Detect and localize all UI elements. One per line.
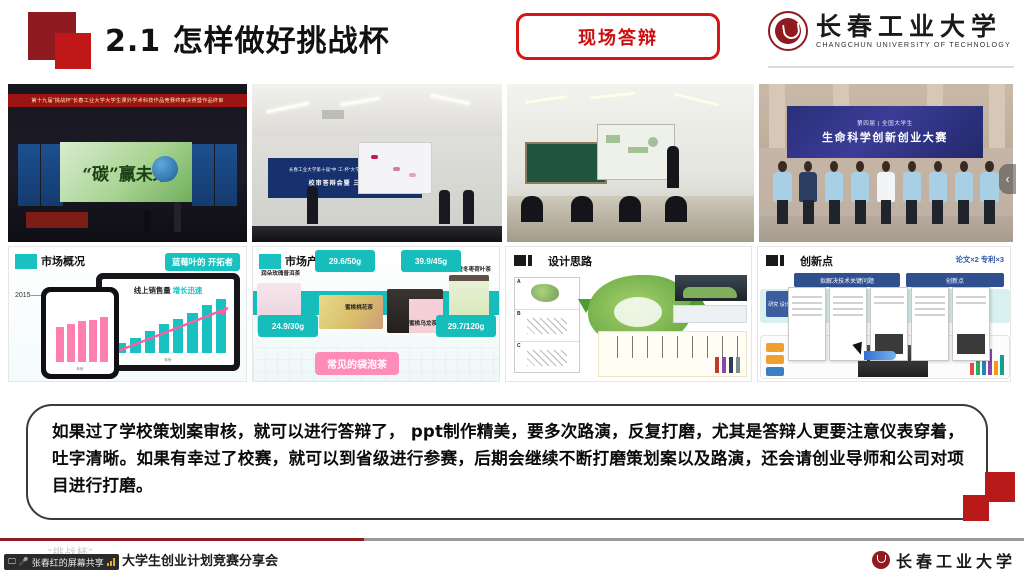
chalkboard: [525, 142, 607, 184]
slide-thumb-innovation[interactable]: 创新点 论文×2 专利×3 拟解决技术关键问题 创新点 研究 设计: [757, 246, 1011, 382]
team-member: [926, 156, 949, 224]
share-label: 张春红的屏幕共享: [32, 556, 104, 569]
vehicle-photo: [675, 275, 747, 301]
trendline-svg: [114, 303, 232, 355]
page-title: 2.1 怎样做好挑战杯: [105, 16, 390, 60]
thumb-title-innovation: 创新点: [800, 253, 833, 269]
event-banner-line2: 生命科学创新创业大赛: [822, 129, 948, 145]
product-label: 润朵玫瑰普洱茶: [261, 269, 300, 277]
team-member: [849, 156, 872, 224]
facade-column: [989, 84, 1005, 148]
tablet-screen: 线上销售量 增长迅速 年份: [102, 279, 234, 365]
screen-graphic: [606, 135, 620, 143]
slide-thumbnail-row: 市场概况 蓝莓叶的 开拓者 2015——2019年销量 增长 线上销售量 增长迅…: [8, 246, 1016, 382]
paper-thumb: [788, 287, 826, 361]
team-member: [978, 156, 1001, 224]
ceiling-light: [525, 95, 567, 104]
chart-title-prefix: 线上销售量: [134, 286, 173, 295]
footer-rule-red: [0, 538, 364, 541]
globe-graphic: [152, 156, 178, 182]
screen-graphic: [371, 155, 378, 159]
ceiling-light: [591, 92, 635, 100]
screen-share-indicator[interactable]: 🖵 🎤 张春红的屏幕共享: [4, 554, 119, 570]
thumb-title-design-idea: 设计思路: [548, 253, 592, 269]
product-price: 39.9/45g: [406, 256, 456, 268]
stage-desk: [26, 212, 88, 228]
papers-patents-metric: 论文×2 专利×3: [956, 254, 1004, 265]
decorative-square-red: [55, 33, 91, 69]
chart-bar: [89, 320, 97, 362]
team-member: [952, 156, 975, 224]
panel-label: A: [517, 279, 521, 285]
chart-title-highlight: 增长迅速: [173, 286, 203, 295]
screen-graphic: [409, 173, 416, 177]
sales-volume-bar-chart: [56, 312, 108, 362]
stage-banner-text: 第十九届“挑战杯”长春工业大学大学生课外学术科技作品竞赛终审决赛暨作品终审: [8, 94, 247, 107]
signal-bars-icon: [107, 558, 115, 566]
abc-panel-group: A B C: [514, 277, 580, 373]
footer-title: 大学生创业计划竞赛分享会: [122, 550, 278, 569]
paper-thumb: [911, 287, 949, 361]
product-box: [319, 295, 383, 329]
team-member: [823, 156, 846, 224]
chevron-left-icon: ‹: [1006, 173, 1010, 185]
attendee-figure: [439, 190, 450, 224]
commentary-callout: 如果过了学校策划案审核，就可以进行答辩了， ppt制作精美，要多次路演，反复打磨…: [26, 404, 988, 520]
screen-graphic: [628, 147, 648, 153]
team-member: [900, 156, 923, 224]
commentary-text: 如果过了学校策划案审核，就可以进行答辩了， ppt制作精美，要多次路演，反复打磨…: [52, 419, 964, 500]
blue-arrow-graphic: [864, 351, 896, 360]
trendline-overlay: [114, 303, 232, 355]
panel-label: C: [517, 343, 521, 349]
university-name-cn: 长春工业大学: [816, 14, 1011, 39]
spectra-panel: [598, 331, 747, 377]
footer-university-name: 长春工业大学: [896, 548, 1016, 572]
chart-bar: [56, 327, 64, 362]
team-member: [771, 156, 794, 224]
event-banner: 第四届 | 全国大学生 生命科学创新创业大赛: [787, 106, 983, 158]
chart-bar: [78, 321, 86, 362]
sample-tubes: [715, 357, 740, 373]
university-seal-icon: [872, 551, 890, 569]
student-figure: [571, 196, 593, 222]
team-group-photo: 第四届 | 全国大学生 生命科学创新创业大赛: [759, 84, 1013, 242]
lecture-hall-photo: 长春工业大学第十届“中·工·杯”大学生创业创新计划大赛 校审答辩会暨 三等仪式: [252, 84, 502, 242]
accent-bar: [15, 254, 37, 269]
screen-graphic: [648, 137, 658, 147]
slide-thumb-market-overview[interactable]: 市场概况 蓝莓叶的 开拓者 2015——2019年销量 增长 线上销售量 增长迅…: [8, 246, 247, 382]
stage-person: [174, 202, 181, 232]
collapse-panel-button[interactable]: ‹: [999, 164, 1016, 194]
panel-label: B: [517, 311, 521, 317]
decorative-square-red: [985, 472, 1015, 502]
product-label: 蜜桃桃花茶: [345, 303, 373, 311]
chart-bar: [100, 317, 108, 362]
thumb-title-market-overview: 市场概况: [41, 253, 85, 269]
phone-chart-xlabel: 年份: [46, 367, 114, 372]
university-seal-icon: [768, 11, 808, 51]
stage-pillar: [18, 144, 40, 206]
paper-thumbnails: [788, 287, 990, 361]
stage-person: [144, 210, 151, 232]
slide-thumb-market-products[interactable]: 市场产品 润朵玫瑰普洱茶 蜜桃桃花茶 蜜桃乌龙茶 圆本堂冬枣荷叶茶 29.6/5…: [252, 246, 500, 382]
stage-pillar: [215, 144, 237, 206]
key-problem-header: 拟解决技术关键问题: [794, 273, 900, 287]
paper-thumb: [870, 287, 908, 361]
slide-thumb-design-idea[interactable]: 设计思路 A B C: [505, 246, 752, 382]
projection-screen: [358, 142, 432, 194]
square-bullet-icon: [766, 255, 784, 266]
product-label: 蜜桃乌龙茶: [409, 319, 437, 327]
product-price-card: 24.9/30g: [258, 315, 318, 337]
stage-led-screen: “碳”赢未来: [60, 142, 192, 202]
diagram-strip: [673, 305, 747, 323]
innovation-header: 创新点: [906, 273, 1004, 287]
common-teabag-tag: 常见的袋泡茶: [315, 352, 399, 375]
student-figure: [521, 196, 543, 222]
screen-graphic: [393, 167, 400, 171]
team-member: [797, 156, 820, 224]
stage-pillar: [192, 144, 214, 206]
panel-c: C: [515, 342, 579, 374]
product-price-card: 29.6/50g: [315, 250, 375, 272]
university-name-en: CHANGCHUN UNIVERSITY OF TECHNOLOGY: [816, 40, 1011, 49]
presenter-figure: [307, 186, 318, 224]
chart-bar: [67, 324, 75, 362]
university-logo: 长春工业大学 CHANGCHUN UNIVERSITY OF TECHNOLOG…: [768, 11, 1011, 51]
decorative-square-red: [963, 495, 989, 521]
footer-rule-gray: [364, 538, 1024, 541]
student-figure: [665, 196, 687, 222]
thumb-tag-pioneer: 蓝莓叶的 开拓者: [165, 253, 240, 271]
audience-row: [252, 226, 502, 242]
panel-b: B: [515, 310, 579, 342]
ceiling: [252, 84, 502, 136]
projection-screen: [597, 124, 675, 180]
university-name-block: 长春工业大学 CHANGCHUN UNIVERSITY OF TECHNOLOG…: [816, 14, 1011, 49]
paper-thumb: [952, 287, 990, 361]
classroom-presentation-photo: [507, 84, 754, 242]
product-price-card: 29.7/120g: [436, 315, 496, 337]
phone-mockup: 年份: [41, 287, 119, 379]
facade-column: [769, 84, 785, 148]
event-banner-line1: 第四届 | 全国大学生: [857, 119, 913, 127]
product-price-card: 39.9/45g: [401, 250, 461, 272]
footer-university-logo: 长春工业大学: [872, 548, 1016, 572]
accent-bar: [259, 254, 281, 269]
slide-header: 2.1 怎样做好挑战杯 现场答辩 长春工业大学 CHANGCHUN UNIVER…: [0, 0, 1024, 74]
slide-footer: “挑战杯” 大学生创业计划竞赛分享会 🖵 🎤 张春红的屏幕共享 长春工业大学: [0, 538, 1024, 576]
projector-icon: [322, 110, 344, 119]
microphone-icon: 🎤: [19, 558, 29, 566]
status-badge-label: 现场答辩: [578, 24, 658, 50]
presenter-figure: [667, 146, 679, 188]
status-badge: 现场答辩: [516, 13, 720, 60]
team-members: [771, 152, 1001, 224]
team-member: [875, 156, 898, 224]
chart-xlabel: 年份: [102, 358, 234, 363]
student-figure: [619, 196, 641, 222]
ceiling-light: [673, 92, 718, 106]
competition-stage-photo: 第十九届“挑战杯”长春工业大学大学生课外学术科技作品竞赛终审决赛暨作品终审 “碳…: [8, 84, 247, 242]
product-price: 24.9/30g: [263, 321, 313, 333]
panel-a: A: [515, 278, 579, 310]
monitor-icon: 🖵: [8, 558, 16, 566]
product-price: 29.6/50g: [320, 256, 370, 268]
attendee-figure: [463, 190, 474, 224]
square-bullet-icon: [514, 255, 532, 266]
header-divider: [768, 66, 1014, 68]
photo-gallery-row: 第十九届“挑战杯”长春工业大学大学生课外学术科技作品竞赛终审决赛暨作品终审 “碳…: [8, 84, 1016, 242]
presentation-slide: 2.1 怎样做好挑战杯 现场答辩 长春工业大学 CHANGCHUN UNIVER…: [0, 0, 1024, 576]
phone-screen: 年份: [46, 292, 114, 374]
product-price: 29.7/120g: [441, 321, 491, 333]
